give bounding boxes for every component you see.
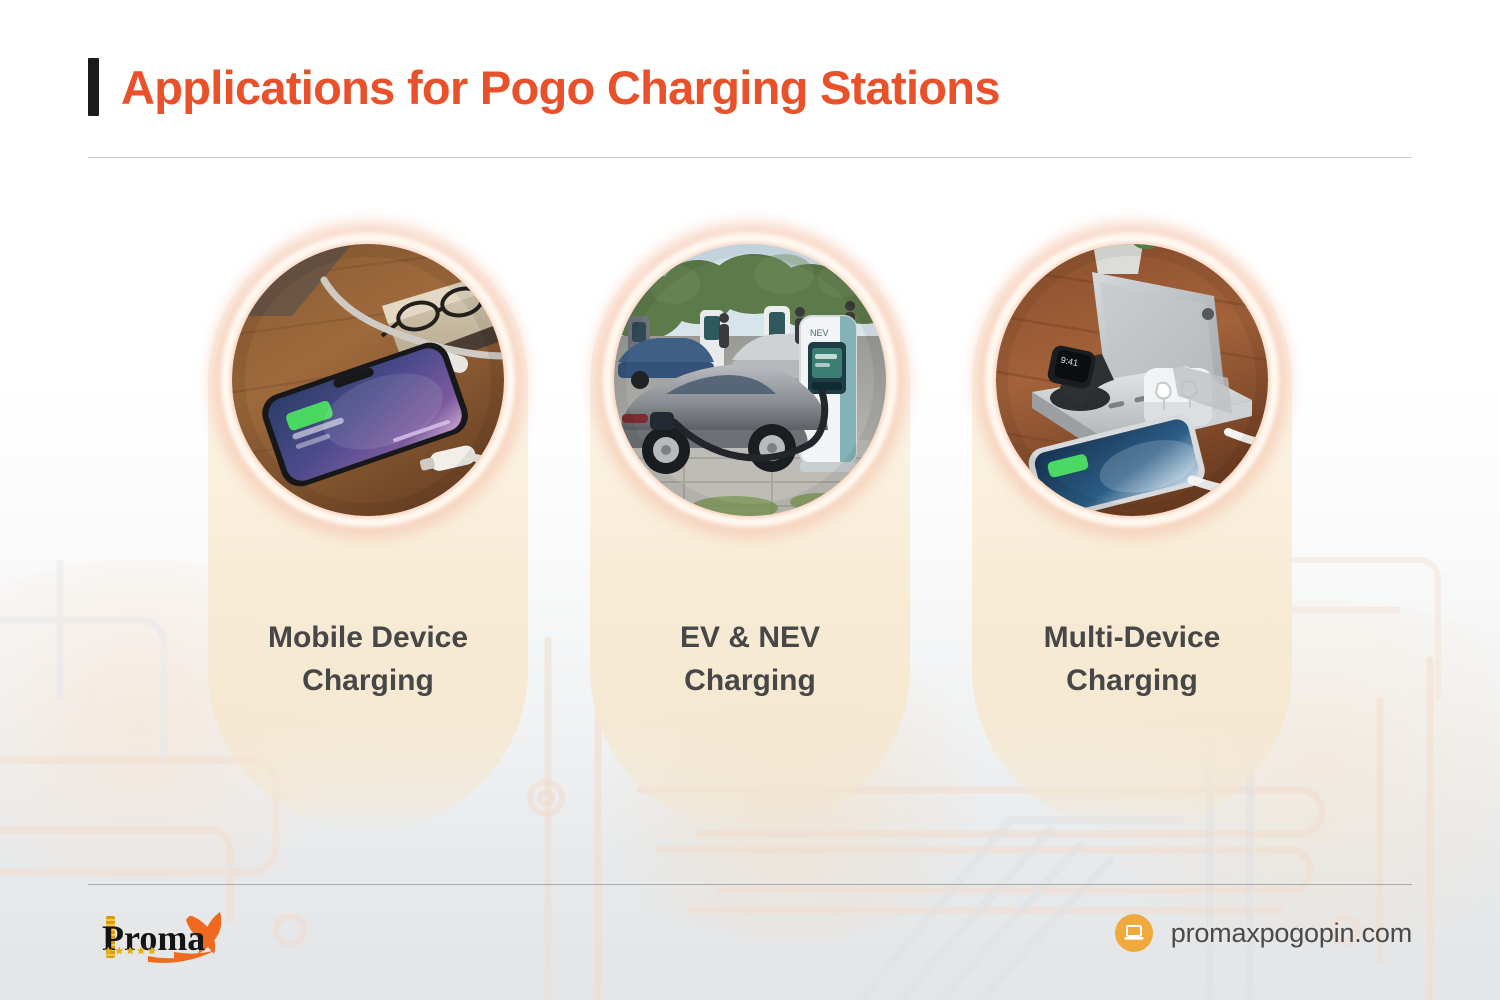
promax-logo[interactable]: Proma xyxy=(88,906,238,968)
multi-device-photo: 9:41 xyxy=(996,244,1268,516)
card-photo-glow xyxy=(232,244,504,516)
application-card[interactable]: 9:41 xyxy=(972,222,1292,830)
header-divider xyxy=(88,157,1412,158)
card-photo-glow: 9:41 xyxy=(996,244,1268,516)
page-title: Applications for Pogo Charging Stations xyxy=(121,64,1000,111)
card-label: Mobile Device Charging xyxy=(208,617,528,702)
website-url: promaxpogopin.com xyxy=(1171,918,1412,949)
application-card[interactable]: NEV xyxy=(590,222,910,830)
header: Applications for Pogo Charging Stations xyxy=(88,58,1000,116)
infographic-page: Applications for Pogo Charging Stations xyxy=(0,0,1500,1000)
footer-divider xyxy=(88,884,1412,885)
website-link[interactable]: promaxpogopin.com xyxy=(1115,914,1412,952)
card-photo-glow: NEV xyxy=(614,244,886,516)
ev-charging-photo: NEV xyxy=(614,244,886,516)
card-label: Multi-Device Charging xyxy=(972,617,1292,702)
application-card[interactable]: Mobile Device Charging xyxy=(208,222,528,830)
phone-charging-photo xyxy=(232,244,504,516)
footer: Proma promaxpogopin.com xyxy=(88,898,1412,978)
title-accent-bar xyxy=(88,58,99,116)
application-card-list: Mobile Device Charging xyxy=(0,222,1500,842)
laptop-icon xyxy=(1115,914,1153,952)
card-label: EV & NEV Charging xyxy=(590,617,910,702)
svg-text:NEV: NEV xyxy=(810,328,829,338)
